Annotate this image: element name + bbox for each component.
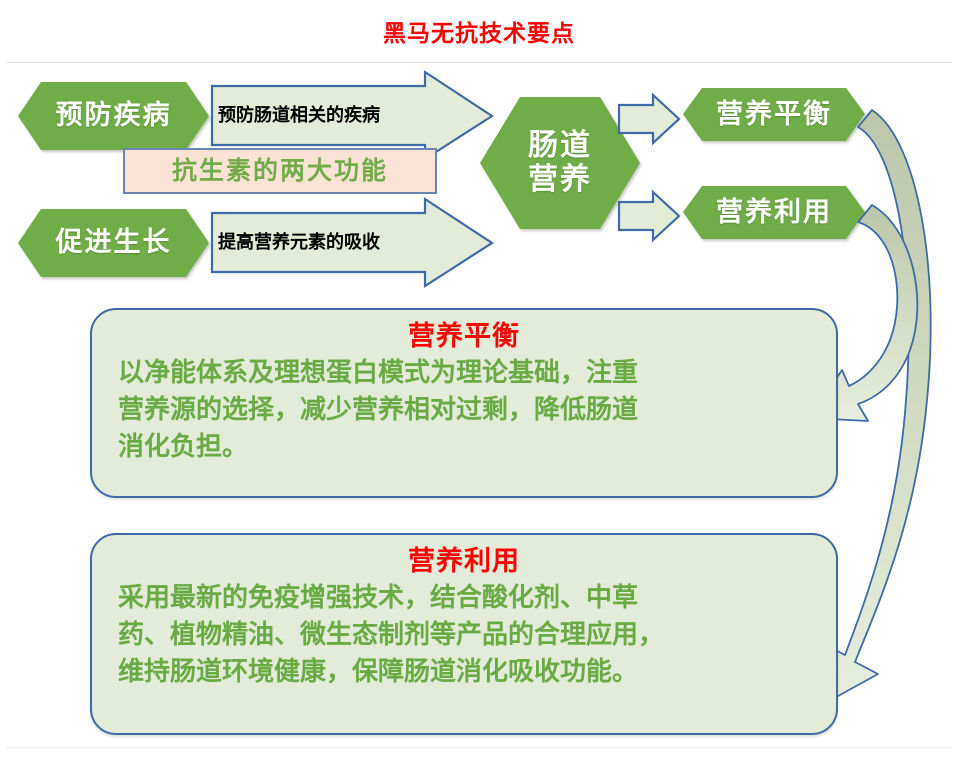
hexagon-label-intestinal-nutrition: 肠道 营养 (480, 97, 640, 229)
hexagon-label-promote-growth: 促进生长 (18, 209, 209, 277)
detail-line: 营养源的选择，减少营养相对过剩，降低肠道 (118, 391, 810, 428)
detail-line: 维持肠道环境健康，保障肠道消化吸收功能。 (118, 653, 810, 690)
detail-heading-nutrition-utilization: 营养利用 (118, 545, 810, 579)
detail-line: 采用最新的免疫增强技术，结合酸化剂、中草 (118, 579, 810, 616)
hub-line-2: 营养 (528, 163, 592, 198)
detail-heading-nutrition-balance: 营养平衡 (118, 320, 810, 354)
page-title: 黑马无抗技术要点 (0, 22, 958, 45)
big-arrow-label-prevent-intestinal-disease: 预防肠道相关的疾病 (218, 86, 428, 145)
hexagon-label-prevent-disease: 预防疾病 (18, 82, 209, 150)
hexagon-label-nutrition-balance: 营养平衡 (683, 88, 865, 141)
divider-bottom (6, 747, 952, 748)
detail-body-nutrition-balance: 以净能体系及理想蛋白模式为理论基础，注重 营养源的选择，减少营养相对过剩，降低肠… (118, 354, 810, 465)
hexagon-label-nutrition-utilization: 营养利用 (683, 186, 865, 239)
detail-line: 以净能体系及理想蛋白模式为理论基础，注重 (118, 354, 810, 391)
detail-box-nutrition-utilization: 营养利用 采用最新的免疫增强技术，结合酸化剂、中草 药、植物精油、微生态制剂等产… (90, 533, 838, 735)
divider-top (6, 62, 952, 63)
big-arrow-label-improve-nutrient-absorption: 提高营养元素的吸收 (218, 213, 428, 272)
hub-line-1: 肠道 (528, 129, 592, 164)
detail-body-nutrition-utilization: 采用最新的免疫增强技术，结合酸化剂、中草 药、植物精油、微生态制剂等产品的合理应… (118, 579, 810, 690)
antibiotic-function-note-label: 抗生素的两大功能 (124, 149, 436, 193)
detail-box-nutrition-balance: 营养平衡 以净能体系及理想蛋白模式为理论基础，注重 营养源的选择，减少营养相对过… (90, 308, 838, 498)
detail-line: 消化负担。 (118, 428, 810, 465)
slide-canvas: 黑马无抗技术要点 (0, 0, 958, 757)
detail-line: 药、植物精油、微生态制剂等产品的合理应用， (118, 616, 810, 653)
